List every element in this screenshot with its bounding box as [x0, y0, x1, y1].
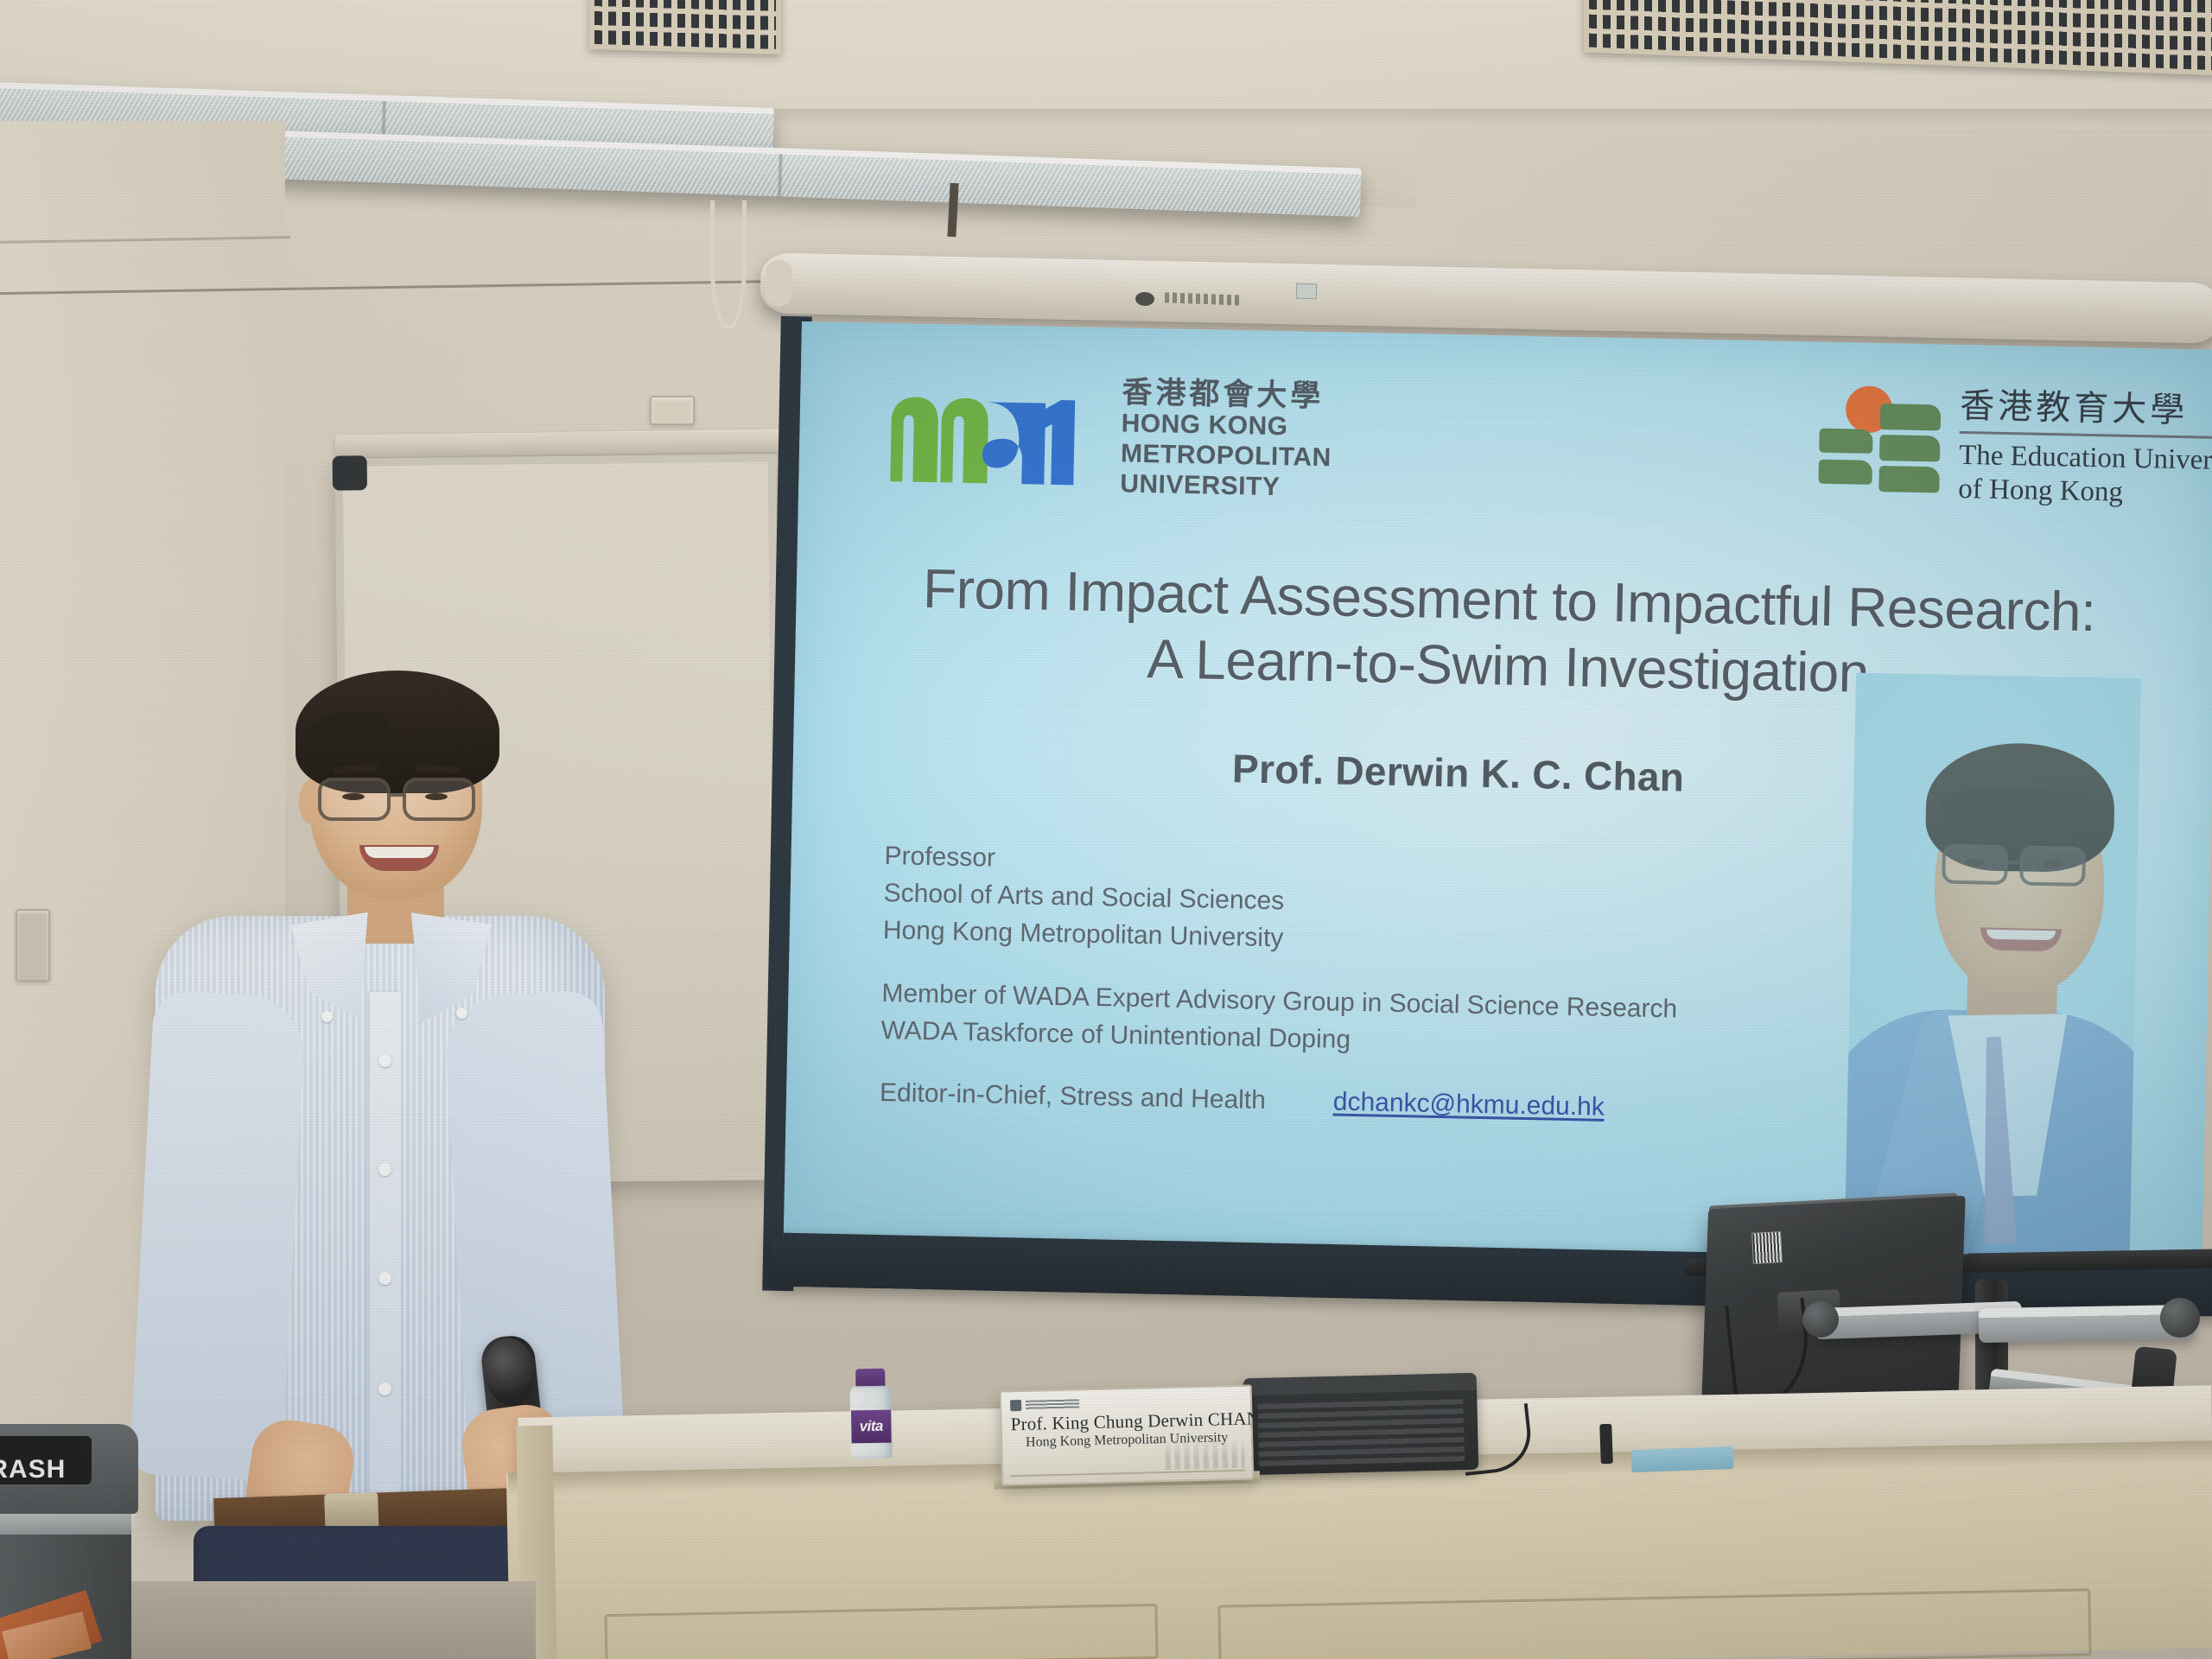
- water-bottle[interactable]: vita: [848, 1369, 894, 1459]
- presenter-shirt-placket: [370, 992, 401, 1521]
- ceiling-air-vent-icon: [589, 0, 781, 54]
- monitor-arm-pivot[interactable]: [2160, 1298, 2200, 1338]
- presenter-eye: [425, 793, 448, 800]
- bottle-label: vita: [851, 1410, 892, 1444]
- bottle-brand-text: vita: [859, 1418, 883, 1435]
- keyboard-keys: [1257, 1397, 1465, 1466]
- shirt-button: [378, 1163, 391, 1176]
- wall-socket: [16, 909, 50, 982]
- presenter-glasses-bridge: [391, 793, 404, 797]
- keyboard[interactable]: [1243, 1373, 1479, 1476]
- presenter-left-arm: [129, 990, 306, 1481]
- name-plate-watermark: [1165, 1439, 1245, 1470]
- wall-plate: [650, 396, 695, 425]
- screen-power-cable: [710, 200, 747, 330]
- microphone-grille: [481, 1336, 538, 1408]
- whiteboard-corner-cap: [333, 455, 367, 490]
- name-plate-rule: [1010, 1470, 1245, 1478]
- presenter-hair: [296, 671, 499, 793]
- projection-screen: 香港都會大學 HONG KONG METROPOLITAN UNIVERSITY…: [783, 321, 2212, 1285]
- collar-button: [321, 1011, 333, 1022]
- name-plate-logo-text: [1026, 1399, 1079, 1409]
- housing-endcap: [766, 259, 792, 307]
- trash-bin-opening: TRASH: [0, 1436, 92, 1484]
- blue-card-object: [1631, 1446, 1734, 1472]
- usb-dongle: [1599, 1424, 1613, 1464]
- trash-bin-lid: TRASH: [0, 1424, 138, 1514]
- monitor-barcode-sticker: [1751, 1231, 1783, 1264]
- vent-ribs: [594, 0, 776, 49]
- podium-panel-seam: [604, 1604, 1158, 1659]
- lecture-hall-photo: 香港都會大學 HONG KONG METROPOLITAN UNIVERSITY…: [0, 0, 2212, 1659]
- presenter-eye: [342, 793, 365, 800]
- housing-sticker: [1296, 283, 1318, 300]
- slide-vignette: [783, 321, 2212, 1285]
- collar-button: [456, 1007, 467, 1019]
- shirt-button: [378, 1382, 391, 1395]
- name-plate-logo-mark-icon: [1010, 1399, 1021, 1410]
- shirt-button: [378, 1272, 391, 1285]
- shirt-button: [378, 1054, 391, 1067]
- trash-bin-label: TRASH: [0, 1455, 66, 1484]
- monitor-arm-pivot[interactable]: [1802, 1301, 1839, 1338]
- name-plate: Prof. King Chung Derwin CHAN Hong Kong M…: [1000, 1384, 1255, 1485]
